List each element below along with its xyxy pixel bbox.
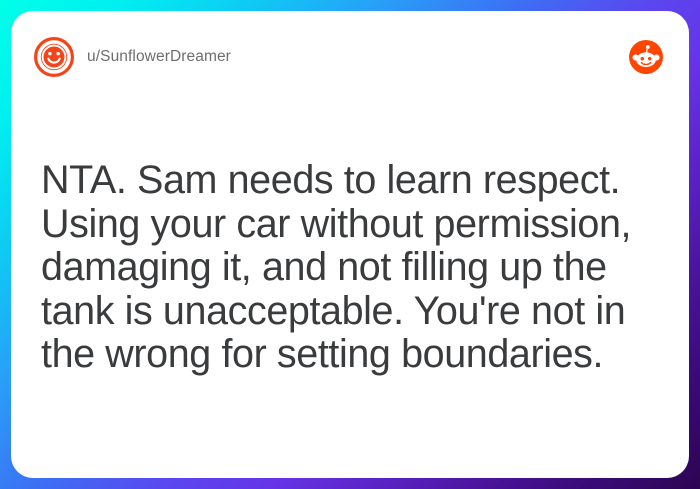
smiley-face-avatar-icon <box>34 37 74 77</box>
username-label: u/SunflowerDreamer <box>87 48 231 66</box>
post-body-text: NTA. Sam needs to learn respect. Using y… <box>41 159 661 377</box>
reddit-snoo-logo-icon <box>629 40 663 74</box>
reddit-brand-button[interactable] <box>629 40 663 74</box>
reddit-comment-card: u/SunflowerDreamer <box>11 11 689 478</box>
gradient-backdrop: u/SunflowerDreamer <box>0 0 700 489</box>
avatar[interactable] <box>34 37 74 77</box>
card-header: u/SunflowerDreamer <box>11 11 689 103</box>
